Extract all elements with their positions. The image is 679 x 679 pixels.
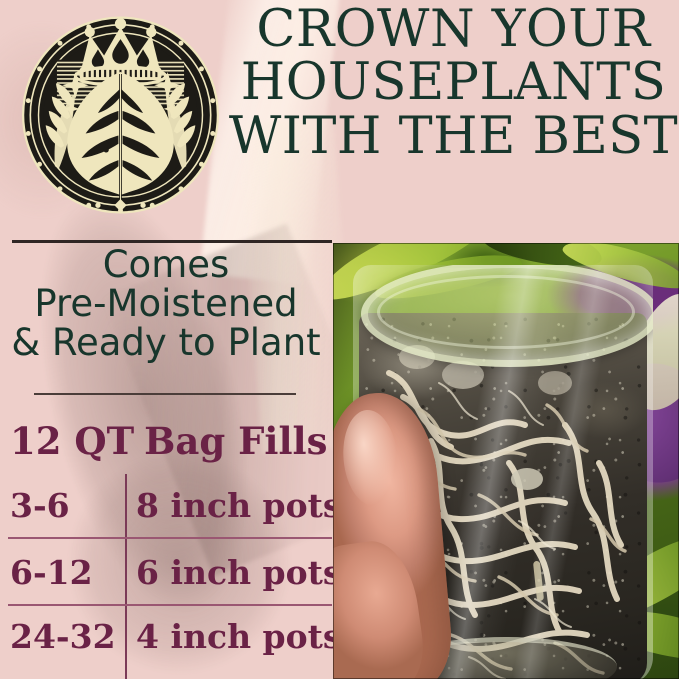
table-row: 3-6 bbox=[10, 489, 70, 522]
headline-line-3: WITH THE BEST bbox=[228, 113, 679, 160]
bag-fills-heading: 12 QTBag Fills bbox=[10, 419, 332, 463]
root-ball-photo bbox=[333, 243, 679, 679]
page-title: CROWN YOUR HOUSEPLANTS WITH THE BEST bbox=[228, 6, 679, 160]
promise-line-2: Pre-Moistened bbox=[0, 285, 332, 322]
table-row: 6 inch pots bbox=[136, 556, 341, 589]
bag-fills-amount: 12 QT bbox=[10, 419, 134, 463]
crown-monstera-logo bbox=[18, 9, 223, 221]
table-row: 24-32 bbox=[10, 620, 116, 653]
table-column-divider bbox=[125, 474, 127, 679]
table-row-divider-1 bbox=[8, 537, 332, 539]
headline-line-1: CROWN YOUR bbox=[228, 6, 679, 53]
cup-inner-rim bbox=[377, 275, 635, 349]
promise-line-3: & Ready to Plant bbox=[0, 324, 332, 361]
headline-line-2: HOUSEPLANTS bbox=[228, 59, 679, 106]
product-infographic: CROWN YOUR HOUSEPLANTS WITH THE BEST Com… bbox=[0, 0, 679, 679]
table-row-divider-2 bbox=[8, 604, 332, 606]
pre-moistened-claim: Comes Pre-Moistened & Ready to Plant bbox=[0, 246, 332, 361]
thumb-highlight bbox=[339, 408, 401, 508]
divider-middle bbox=[34, 393, 296, 395]
table-row: 8 inch pots bbox=[136, 489, 341, 522]
bag-fills-label: Bag Fills bbox=[144, 419, 327, 463]
promise-line-1: Comes bbox=[0, 246, 332, 283]
table-row: 6-12 bbox=[10, 556, 93, 589]
table-row: 4 inch pots bbox=[136, 620, 341, 653]
